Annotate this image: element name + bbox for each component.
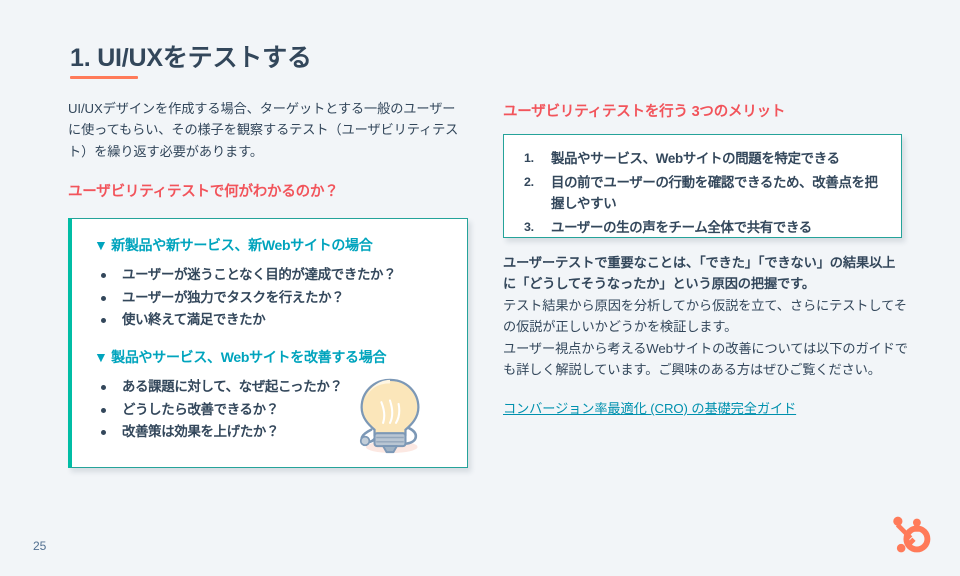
list-item: どうしたら改善できるか？ <box>94 400 449 421</box>
card-section-heading-new-product: ▼ 新製品や新サービス、新Webサイトの場合 <box>94 235 449 255</box>
list-item: 使い終えて満足できたか <box>94 310 449 331</box>
merits-list: 製品やサービス、Webサイトの問題を特定できる 目の前でユーザーの行動を確認でき… <box>514 149 887 239</box>
right-sub-heading: ユーザビリティテストを行う 3つのメリット <box>503 100 908 121</box>
merits-card: 製品やサービス、Webサイトの問題を特定できる 目の前でユーザーの行動を確認でき… <box>503 134 902 238</box>
verification-paragraph: テスト結果から原因を分析してから仮説を立て、さらにテストしてその仮説が正しいかど… <box>503 295 908 338</box>
list-item: ユーザーが独力でタスクを行えたか？ <box>94 288 449 309</box>
right-column: ユーザビリティテストを行う 3つのメリット 製品やサービス、Webサイトの問題を… <box>503 100 908 418</box>
intro-paragraph: UI/UXデザインを作成する場合、ターゲットとする一般のユーザーに使ってもらい、… <box>68 98 468 162</box>
card-section-heading-improvement: ▼ 製品やサービス、Webサイトを改善する場合 <box>94 347 449 367</box>
page-title: 1. UI/UXをテストする <box>70 38 312 74</box>
guide-intro-paragraph: ユーザー視点から考えるWebサイトの改善については以下のガイドでも詳しく解説して… <box>503 338 908 381</box>
card-section-spacer <box>94 333 449 347</box>
usability-findings-card: ▼ 新製品や新サービス、新Webサイトの場合 ユーザーが迷うことなく目的が達成で… <box>68 218 468 468</box>
list-item: 目の前でユーザーの行動を確認できるため、改善点を把握しやすい <box>514 173 887 215</box>
list-item: ユーザーが迷うことなく目的が達成できたか？ <box>94 265 449 286</box>
improvement-question-list: ある課題に対して、なぜ起こったか？ どうしたら改善できるか？ 改善策は効果を上げ… <box>94 377 449 443</box>
left-column: UI/UXデザインを作成する場合、ターゲットとする一般のユーザーに使ってもらい、… <box>68 98 468 468</box>
hubspot-sprocket-logo <box>890 514 932 556</box>
list-item: 改善策は効果を上げたか？ <box>94 422 449 443</box>
page-number: 25 <box>33 539 46 553</box>
key-point-paragraph: ユーザーテストで重要なことは、「できた」「できない」の結果以上に「どうしてそうな… <box>503 252 908 295</box>
left-sub-heading: ユーザビリティテストで何がわかるのか？ <box>68 180 468 201</box>
slide-canvas: 1. UI/UXをテストする UI/UXデザインを作成する場合、ターゲットとする… <box>0 0 960 576</box>
new-product-question-list: ユーザーが迷うことなく目的が達成できたか？ ユーザーが独力でタスクを行えたか？ … <box>94 265 449 331</box>
list-item: ある課題に対して、なぜ起こったか？ <box>94 377 449 398</box>
title-accent-rule <box>70 76 138 79</box>
list-item: 製品やサービス、Webサイトの問題を特定できる <box>514 149 887 170</box>
list-item: ユーザーの生の声をチーム全体で共有できる <box>514 218 887 239</box>
cro-guide-link[interactable]: コンバージョン率最適化 (CRO) の基礎完全ガイド <box>503 398 796 417</box>
